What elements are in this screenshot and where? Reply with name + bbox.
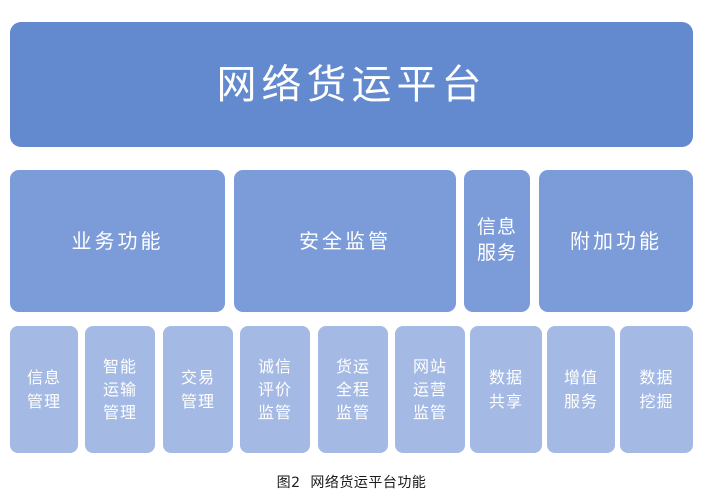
tier3-box-information-management: 信息管理 <box>10 326 78 453</box>
tier3-label: 增值服务 <box>564 366 598 412</box>
tier3-label: 智能运输管理 <box>103 355 137 425</box>
tier2-label: 信息服务 <box>477 215 517 266</box>
platform-banner: 网络货运平台 <box>10 22 693 147</box>
tier3-label: 交易管理 <box>181 366 215 412</box>
tier3-label: 信息管理 <box>27 366 61 412</box>
tier3-box-value-added-service: 增值服务 <box>547 326 615 453</box>
tier3-box-intelligent-transport-management: 智能运输管理 <box>85 326 155 453</box>
tier3-label: 数据共享 <box>489 366 523 412</box>
platform-banner-label: 网络货运平台 <box>217 63 487 107</box>
tier3-box-data-sharing: 数据共享 <box>470 326 542 453</box>
tier3-label: 数据挖掘 <box>639 366 673 412</box>
tier3-box-credit-evaluation-supervision: 诚信评价监管 <box>240 326 310 453</box>
tier2-label: 附加功能 <box>570 228 662 255</box>
tier2-box-information-service: 信息服务 <box>464 170 530 312</box>
tier3-box-website-operation-supervision: 网站运营监管 <box>395 326 465 453</box>
tier3-box-data-mining: 数据挖掘 <box>620 326 693 453</box>
tier3-label: 货运全程监管 <box>336 355 370 425</box>
tier2-label: 业务功能 <box>72 228 164 255</box>
tier2-box-safety-supervision: 安全监管 <box>234 170 456 312</box>
figure-caption: 图2 网络货运平台功能 <box>0 472 703 492</box>
tier2-box-additional-functions: 附加功能 <box>539 170 693 312</box>
tier2-row: 业务功能 安全监管 信息服务 附加功能 <box>0 170 703 312</box>
tier3-label: 网站运营监管 <box>413 355 447 425</box>
tier3-label: 诚信评价监管 <box>258 355 292 425</box>
tier2-label: 安全监管 <box>299 228 391 255</box>
tier3-box-whole-freight-process-supervision: 货运全程监管 <box>318 326 388 453</box>
tier2-box-business-functions: 业务功能 <box>10 170 225 312</box>
tier3-row: 信息管理 智能运输管理 交易管理 诚信评价监管 货运全程监管 网站运营监管 数据… <box>0 326 703 453</box>
tier3-box-transaction-management: 交易管理 <box>163 326 233 453</box>
network-freight-platform-diagram: 网络货运平台 业务功能 安全监管 信息服务 附加功能 信息管理 智能运输管理 交… <box>0 0 703 500</box>
